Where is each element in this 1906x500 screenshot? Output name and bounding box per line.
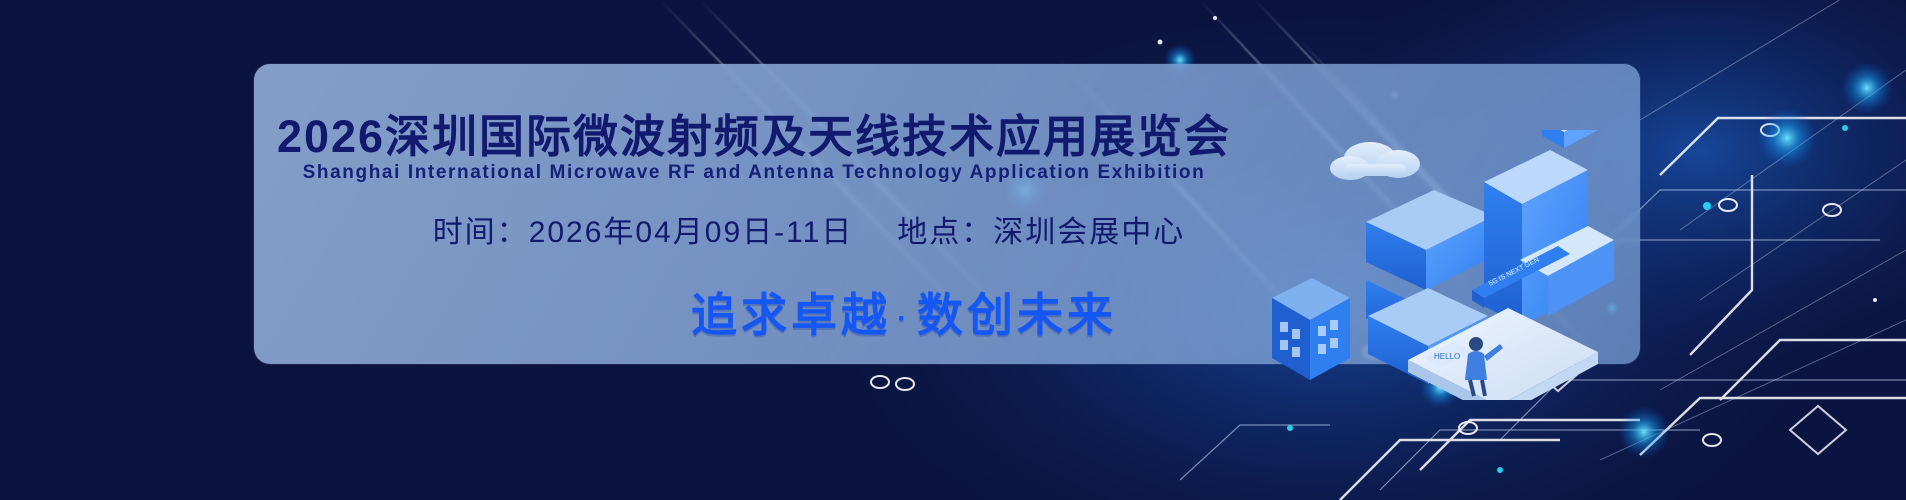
slogan-separator-dot: · bbox=[891, 302, 917, 335]
mail-chip-icon bbox=[1542, 130, 1598, 148]
page-title: 2026深圳国际微波射频及天线技术应用展览会 bbox=[254, 100, 1254, 165]
venue-label: 地点： bbox=[897, 216, 993, 249]
isometric-5g-illustration: HELLO 5G IS NEXT GEN bbox=[1258, 130, 1618, 400]
english-subtitle: Shanghai International Microwave RF and … bbox=[254, 162, 1254, 184]
date-label: 时间： bbox=[433, 216, 529, 249]
cloud-icon bbox=[1330, 142, 1420, 180]
event-slogan: 追求卓越·数创未来 bbox=[404, 279, 1404, 345]
event-banner: 2026深圳国际微波射频及天线技术应用展览会 Shanghai Internat… bbox=[0, 0, 1906, 500]
hello-label: HELLO bbox=[1434, 352, 1460, 361]
building-icon bbox=[1272, 278, 1350, 380]
slogan-right: 数创未来 bbox=[917, 289, 1117, 341]
event-meta: 时间：2026年04月09日-11日地点：深圳会展中心 bbox=[254, 207, 1364, 251]
letter-g-block bbox=[1484, 150, 1614, 326]
date-value: 2026年04月09日-11日 bbox=[529, 216, 854, 249]
slogan-left: 追求卓越 bbox=[691, 289, 891, 341]
venue-value: 深圳会展中心 bbox=[993, 216, 1185, 249]
